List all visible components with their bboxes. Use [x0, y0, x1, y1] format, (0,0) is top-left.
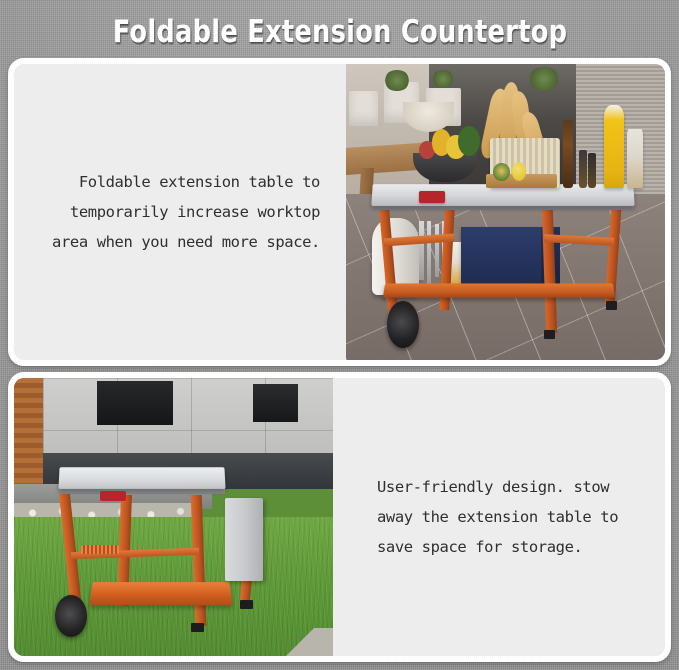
potted-plant	[432, 70, 454, 88]
patio-cart-extended-photo	[346, 64, 665, 360]
window-opening	[253, 384, 298, 423]
spice-bottle	[588, 153, 596, 189]
cart-foot	[544, 330, 555, 339]
cart-lower-shelf	[383, 283, 615, 297]
paving-corner	[282, 628, 333, 656]
avocado	[493, 163, 511, 181]
cart-wheel	[55, 595, 87, 637]
brand-badge	[419, 191, 445, 203]
page-title-text: Foldable Extension Countertop	[112, 14, 566, 50]
seasoning-shaker	[627, 129, 643, 188]
sauce-bottle	[563, 120, 573, 188]
potted-plant	[528, 67, 560, 91]
folded-extension-table	[225, 498, 263, 581]
caption-text-extended: Foldable extension table to temporarily …	[36, 167, 324, 258]
planter-box	[349, 91, 378, 127]
caption-block-extended: Foldable extension table to temporarily …	[14, 64, 346, 360]
potted-plant	[384, 70, 410, 91]
stainless-worktop	[58, 467, 225, 489]
feature-panel-extended: Foldable extension table to temporarily …	[8, 58, 671, 366]
cart-foot	[191, 623, 204, 632]
grill-tool	[435, 224, 439, 277]
page-title: Foldable Extension Countertop	[0, 8, 679, 56]
support-spring	[81, 545, 119, 554]
feature-panel-folded: User-friendly design. stow away the exte…	[8, 372, 671, 662]
caption-block-folded: User-friendly design. stow away the exte…	[333, 378, 665, 656]
cart-foot	[606, 301, 617, 310]
window-opening	[97, 381, 174, 425]
caption-text-folded: User-friendly design. stow away the exte…	[355, 472, 643, 563]
lemon	[512, 162, 526, 181]
mustard-bottle	[604, 105, 623, 188]
grill-tool	[427, 221, 431, 286]
grill-tool	[419, 221, 423, 280]
beverage-case	[461, 227, 541, 286]
spice-bottle	[579, 150, 587, 188]
cart-foot	[240, 600, 253, 609]
vegetable-broccoli	[458, 126, 480, 156]
lawn-cart-folded-photo	[14, 378, 333, 656]
cart-lower-shelf	[89, 582, 232, 605]
brand-badge	[100, 491, 126, 501]
